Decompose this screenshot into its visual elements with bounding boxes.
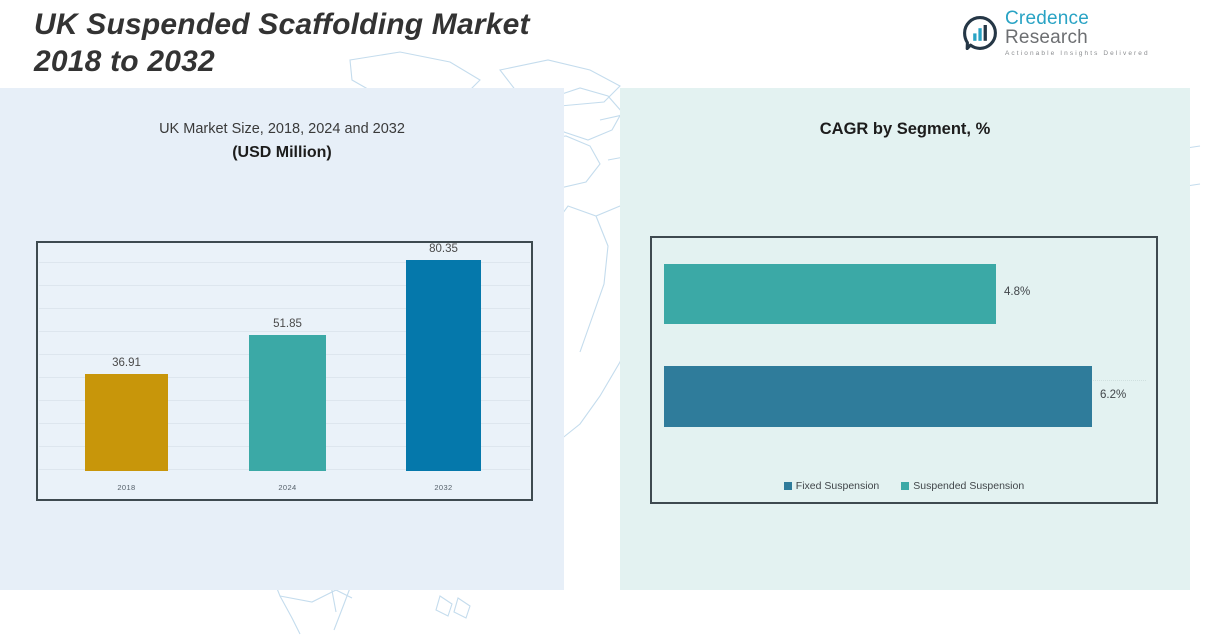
logo-wordmark: Credence Research xyxy=(1005,9,1168,47)
vertical-bar-chart: 36.91 2018 51.85 2024 80.35 2032 xyxy=(36,241,533,501)
bar-value-label-2024: 51.85 xyxy=(241,318,334,330)
bar-value-label-2018: 36.91 xyxy=(85,357,168,369)
bar-category-label-2024: 2024 xyxy=(249,483,326,492)
logo-text-block: Credence Research Actionable Insights De… xyxy=(1005,9,1168,58)
bar-value-label-fixed-suspension: 6.2% xyxy=(1100,389,1126,401)
logo-tagline: Actionable Insights Delivered xyxy=(1005,51,1168,58)
right-panel-cagr: CAGR by Segment, % 4.8% 6.2% Fixed Suspe… xyxy=(620,88,1190,590)
page-title: UK Suspended Scaffolding Market 2018 to … xyxy=(34,6,634,80)
chart-legend: Fixed Suspension Suspended Suspension xyxy=(652,480,1156,492)
legend-label-fixed-suspension: Fixed Suspension xyxy=(796,480,879,492)
bar-suspended-suspension xyxy=(664,264,996,324)
bar-value-label-suspended-suspension: 4.8% xyxy=(1004,286,1030,298)
bar-category-label-2032: 2032 xyxy=(406,483,481,492)
bar-value-label-2032: 80.35 xyxy=(398,243,489,255)
legend-label-suspended-suspension: Suspended Suspension xyxy=(913,480,1024,492)
left-chart-unit-label: (USD Million) xyxy=(0,144,564,162)
bar-fixed-suspension xyxy=(664,366,1092,427)
logo-brand-secondary: Research xyxy=(1005,27,1088,48)
infographic-root: UK Suspended Scaffolding Market 2018 to … xyxy=(0,0,1220,637)
bar-2018 xyxy=(85,374,168,471)
legend-item-suspended-suspension: Suspended Suspension xyxy=(901,480,1024,492)
bar-category-label-2018: 2018 xyxy=(85,483,168,492)
legend-item-fixed-suspension: Fixed Suspension xyxy=(784,480,879,492)
bar-chart-circle-icon xyxy=(963,16,997,50)
left-panel-market-size: UK Market Size, 2018, 2024 and 2032 (USD… xyxy=(0,88,564,590)
right-chart-title: CAGR by Segment, % xyxy=(620,120,1190,139)
credence-research-logo: Credence Research Actionable Insights De… xyxy=(963,10,1168,56)
bar-2032 xyxy=(406,260,481,471)
bar-2024 xyxy=(249,335,326,471)
logo-brand-primary: Credence xyxy=(1005,8,1089,29)
legend-swatch-fixed-suspension xyxy=(784,482,792,490)
horizontal-bar-chart: 4.8% 6.2% Fixed Suspension Suspended Sus… xyxy=(650,236,1158,504)
left-chart-subtitle: UK Market Size, 2018, 2024 and 2032 xyxy=(0,121,564,137)
legend-swatch-suspended-suspension xyxy=(901,482,909,490)
